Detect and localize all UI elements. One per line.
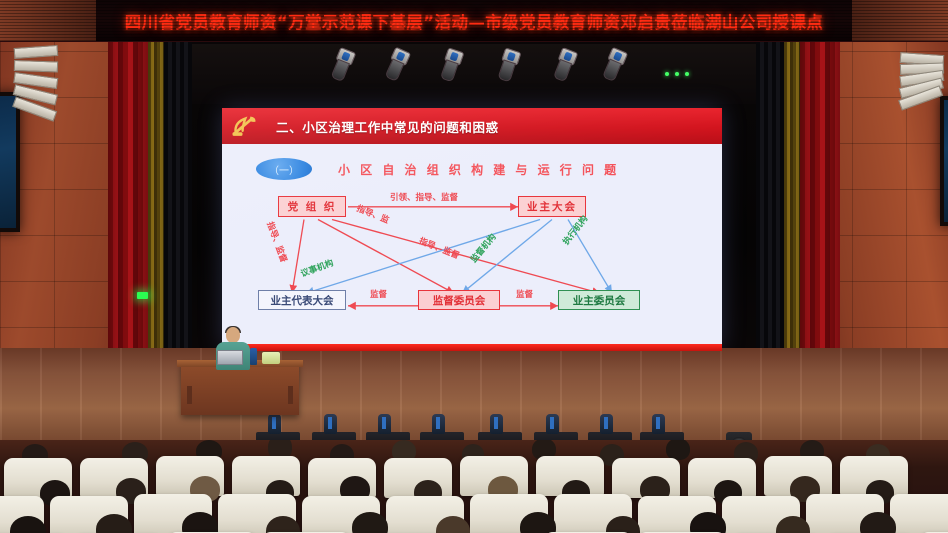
- node-owners-delegates[interactable]: 业主代表大会: [258, 290, 346, 310]
- overhead-moving-light: [550, 47, 578, 85]
- overhead-moving-light: [437, 47, 464, 85]
- truss-indicator-leds: [665, 72, 693, 76]
- presentation-slide: 二、小区治理工作中常见的问题和困惑 （一） 小 区 自 治 组 织 构 建 与 …: [222, 108, 722, 348]
- node-supervision-committee[interactable]: 监督委员会: [418, 290, 500, 310]
- party-emblem-icon: [230, 113, 258, 139]
- audience-head: [776, 516, 810, 533]
- water-bottle: [250, 348, 257, 365]
- ceiling-truss: [150, 44, 798, 104]
- node-owners-assembly[interactable]: 业主大会: [518, 196, 586, 217]
- slide-title: 二、小区治理工作中常见的问题和困惑: [276, 117, 499, 136]
- audience-area: [0, 440, 948, 533]
- edge-label-lead-guide-supervise: 引领、指导、监督: [390, 191, 458, 203]
- slide-header: 二、小区治理工作中常见的问题和困惑: [222, 108, 722, 144]
- audience-head: [690, 512, 726, 533]
- governance-diagram: 党 组 织 业主大会 业主代表大会 监督委员会 业主委员会 引领、指导、监督 指…: [222, 190, 722, 348]
- laptop-device: [217, 350, 243, 365]
- audience-head: [352, 512, 388, 533]
- side-display-left: [0, 92, 20, 232]
- overhead-moving-light: [328, 47, 356, 85]
- audience-head: [606, 516, 640, 533]
- auditorium-scene: 二、小区治理工作中常见的问题和困惑 （一） 小 区 自 治 组 织 构 建 与 …: [0, 0, 948, 533]
- audience-seat: [890, 494, 948, 533]
- line-array-speaker-right: [900, 52, 944, 112]
- audience-head: [436, 516, 470, 533]
- edge-label-supervise-right: 监督: [516, 288, 533, 300]
- subtitle-text: 小 区 自 治 组 织 构 建 与 运 行 问 题: [338, 161, 619, 178]
- led-banner: 四川省党员教育师资“万堂示范课下基层”活动—市级党员教育师资邓启贵莅临湖山公司授…: [0, 0, 948, 42]
- audience-head: [520, 512, 556, 533]
- tissue-box: [262, 352, 280, 364]
- banner-text: 四川省党员教育师资“万堂示范课下基层”活动—市级党员教育师资邓启贵莅临湖山公司授…: [125, 9, 824, 33]
- projection-screen: 二、小区治理工作中常见的问题和困惑 （一） 小 区 自 治 组 织 构 建 与 …: [222, 108, 722, 348]
- overhead-moving-light: [599, 47, 628, 85]
- overhead-moving-light: [495, 47, 522, 85]
- node-owners-committee[interactable]: 业主委员会: [558, 290, 640, 310]
- edge-label-supervise-left: 监督: [370, 288, 387, 300]
- overhead-moving-light: [382, 47, 411, 85]
- screen-base-trim: [222, 344, 722, 351]
- exit-indicator-light: [137, 292, 148, 299]
- audience-head: [666, 440, 690, 460]
- line-array-speaker-left: [14, 48, 58, 108]
- audience-head: [182, 512, 218, 533]
- side-display-right: [940, 96, 948, 226]
- subtitle-badge: （一）: [256, 158, 312, 180]
- slide-subtitle-row: （一） 小 区 自 治 组 织 构 建 与 运 行 问 题: [256, 158, 619, 180]
- node-party-organization[interactable]: 党 组 织: [278, 196, 346, 217]
- slide-body: （一） 小 区 自 治 组 织 构 建 与 运 行 问 题: [222, 144, 722, 348]
- presenter-head: [226, 327, 240, 343]
